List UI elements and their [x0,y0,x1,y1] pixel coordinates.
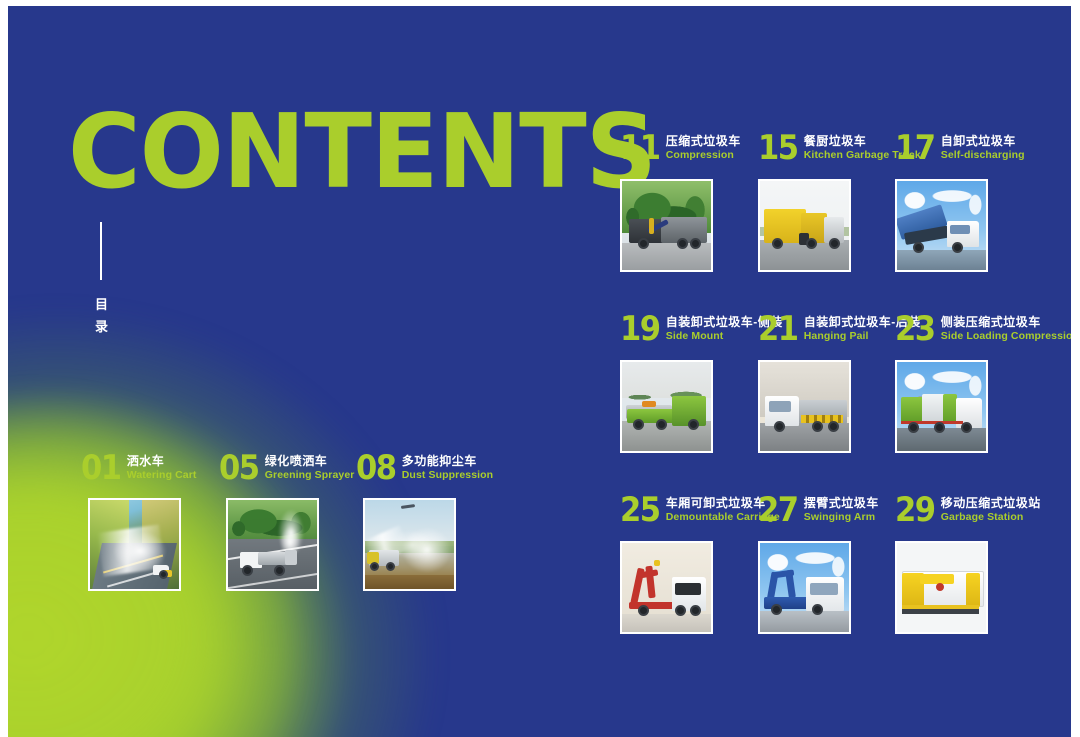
vertical-label-mulu: 目 录 [92,294,112,338]
entry-17-text: 自卸式垃圾车 Self-discharging [941,133,1025,162]
entry-11-head: 11 压缩式垃圾车 Compression [620,133,741,162]
self-discharging-truck-scene [897,181,986,270]
entry-29[interactable]: 29 移动压缩式垃圾站 Garbage Station [895,495,1041,524]
vertical-label-char-2: 录 [92,316,112,338]
entry-23-photo[interactable] [895,360,988,453]
entry-08-head: 08 多功能抑尘车 Dust Suppression [356,453,493,482]
entry-27-head: 27 摆臂式垃圾车 Swinging Arm [758,495,879,524]
entry-01-photo[interactable] [88,498,181,591]
entry-29-label-en: Garbage Station [941,511,1041,524]
entry-17[interactable]: 17 自卸式垃圾车 Self-discharging [895,133,1025,162]
entry-27[interactable]: 27 摆臂式垃圾车 Swinging Arm [758,495,879,524]
entry-15-number: 15 [758,133,798,164]
side-mount-truck-scene [622,362,711,451]
entry-25-photo[interactable] [620,541,713,634]
entry-01-head: 01 洒水车 Watering Cart [81,453,197,482]
entry-08-label-en: Dust Suppression [402,469,493,482]
entry-05-label-cn: 绿化喷洒车 [265,454,355,468]
entry-08-label-cn: 多功能抑尘车 [402,454,493,468]
entry-15-photo[interactable] [758,179,851,272]
entry-23-label-cn: 侧装压缩式垃圾车 [941,315,1071,329]
demountable-carriage-scene [622,543,711,632]
entry-23-label-en: Side Loading Compression [941,330,1071,343]
kitchen-garbage-truck-scene [760,181,849,270]
side-loading-compression-scene [897,362,986,451]
title-block: CONTENTS 目 录 [68,104,488,184]
vertical-label-char-1: 目 [92,294,112,316]
entry-08[interactable]: 08 多功能抑尘车 Dust Suppression [356,453,493,482]
compression-truck-scene [622,181,711,270]
entry-27-photo[interactable] [758,541,851,634]
entry-05[interactable]: 05 绿化喷洒车 Greening Sprayer [219,453,354,482]
entry-29-number: 29 [895,495,935,526]
entry-27-label-cn: 摆臂式垃圾车 [804,496,879,510]
entry-19-photo[interactable] [620,360,713,453]
entry-27-label-en: Swinging Arm [804,511,879,524]
entry-11-photo[interactable] [620,179,713,272]
entry-17-head: 17 自卸式垃圾车 Self-discharging [895,133,1025,162]
page-title: CONTENTS [68,104,564,201]
entry-05-text: 绿化喷洒车 Greening Sprayer [265,453,355,482]
entry-21-photo[interactable] [758,360,851,453]
entry-08-number: 08 [356,453,396,484]
entry-17-photo[interactable] [895,179,988,272]
entry-08-photo[interactable] [363,498,456,591]
entry-17-label-en: Self-discharging [941,149,1025,162]
entry-11-text: 压缩式垃圾车 Compression [666,133,741,162]
entry-01-number: 01 [81,453,121,484]
entry-01-text: 洒水车 Watering Cart [127,453,197,482]
entry-08-text: 多功能抑尘车 Dust Suppression [402,453,493,482]
entry-25[interactable]: 25 车厢可卸式垃圾车 Demountable Carriage [620,495,780,524]
entry-11-number: 11 [620,133,660,164]
entry-19-number: 19 [620,314,660,345]
watering-cart-scene [90,500,179,589]
entry-23-head: 23 侧装压缩式垃圾车 Side Loading Compression [895,314,1071,343]
greening-sprayer-scene [228,500,317,589]
entry-25-head: 25 车厢可卸式垃圾车 Demountable Carriage [620,495,780,524]
entry-29-label-cn: 移动压缩式垃圾站 [941,496,1041,510]
entry-29-text: 移动压缩式垃圾站 Garbage Station [941,495,1041,524]
entry-21-number: 21 [758,314,798,345]
swinging-arm-truck-scene [760,543,849,632]
entry-11-label-cn: 压缩式垃圾车 [666,134,741,148]
slide-canvas: CONTENTS 目 录 01 洒水车 Watering Cart [8,6,1071,737]
entry-27-text: 摆臂式垃圾车 Swinging Arm [804,495,879,524]
entry-23[interactable]: 23 侧装压缩式垃圾车 Side Loading Compression [895,314,1071,343]
entry-25-number: 25 [620,495,660,526]
entry-01-label-cn: 洒水车 [127,454,197,468]
entry-01-label-en: Watering Cart [127,469,197,482]
entry-17-number: 17 [895,133,935,164]
entry-05-head: 05 绿化喷洒车 Greening Sprayer [219,453,354,482]
entry-01[interactable]: 01 洒水车 Watering Cart [81,453,197,482]
slide-root: CONTENTS 目 录 01 洒水车 Watering Cart [0,0,1080,737]
entry-27-number: 27 [758,495,798,526]
entry-05-label-en: Greening Sprayer [265,469,355,482]
title-divider-line [100,222,102,280]
entry-05-number: 05 [219,453,259,484]
entry-29-head: 29 移动压缩式垃圾站 Garbage Station [895,495,1041,524]
entry-17-label-cn: 自卸式垃圾车 [941,134,1025,148]
garbage-station-scene [897,543,986,632]
entry-11-label-en: Compression [666,149,741,162]
dust-suppression-scene [365,500,454,589]
entry-23-text: 侧装压缩式垃圾车 Side Loading Compression [941,314,1071,343]
entry-23-number: 23 [895,314,935,345]
entry-29-photo[interactable] [895,541,988,634]
entry-05-photo[interactable] [226,498,319,591]
hanging-pail-truck-scene [760,362,849,451]
entry-11[interactable]: 11 压缩式垃圾车 Compression [620,133,741,162]
